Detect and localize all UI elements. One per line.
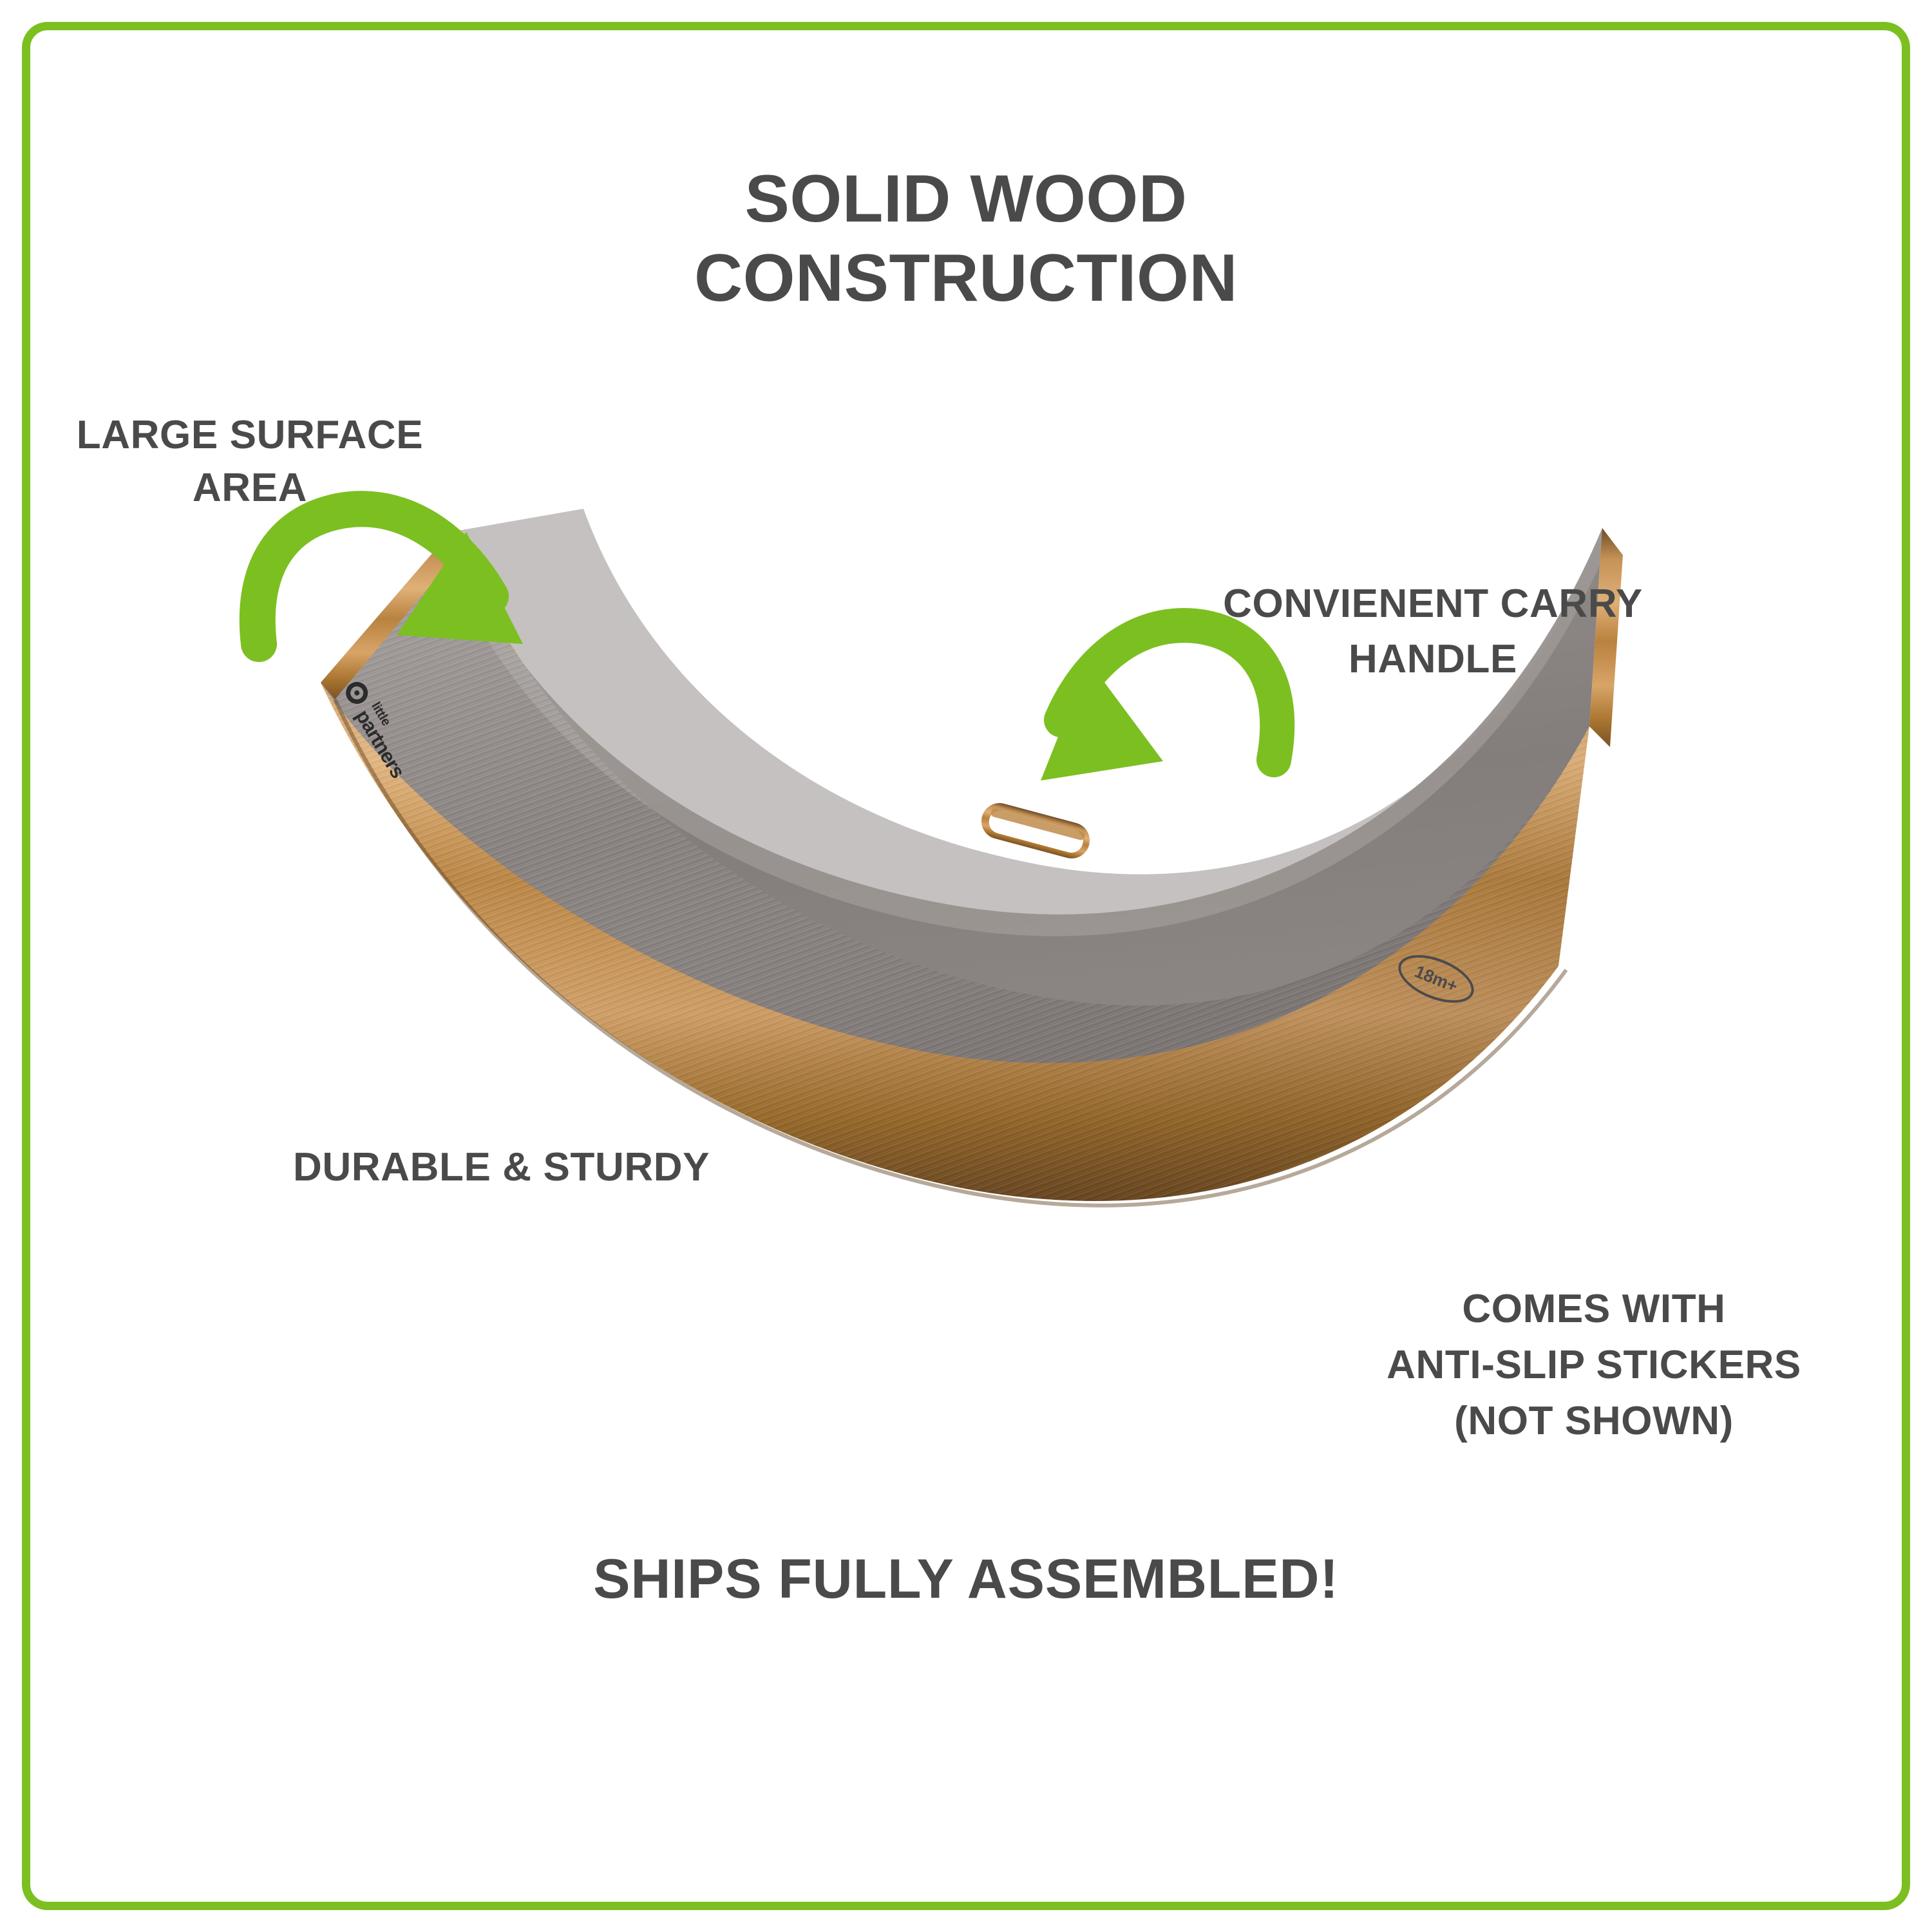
infographic-canvas: little partners 18m+ SOLID WOOD CONSTRUC… xyxy=(0,0,1932,1932)
annotation-carry-handle: CONVIENENT CARRY HANDLE xyxy=(1166,576,1700,687)
annotation-large-surface-area: LARGE SURFACE AREA xyxy=(50,409,450,515)
carry-handle-slot xyxy=(978,799,1094,863)
footer-ships-assembled: SHIPS FULLY ASSEMBLED! xyxy=(0,1546,1932,1613)
page-title: SOLID WOOD CONSTRUCTION xyxy=(0,160,1932,317)
annotation-durable-sturdy: DURABLE & STURDY xyxy=(293,1143,710,1192)
annotation-anti-slip-stickers: COMES WITH ANTI-SLIP STICKERS (NOT SHOWN… xyxy=(1323,1282,1864,1449)
